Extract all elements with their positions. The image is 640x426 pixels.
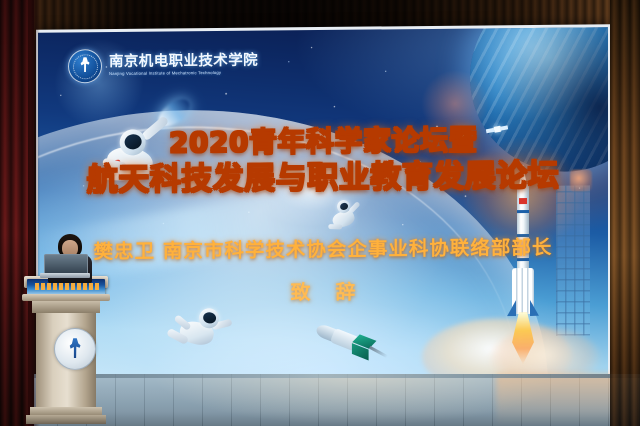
led-screen: 南京机电职业技术学院 Nanjing Vocational Institute … <box>38 27 608 381</box>
banner-title-line2: 航天科技发展与职业教育发展论坛 <box>38 159 608 199</box>
banner-title-line1: 2020青年科学家论坛暨 <box>38 123 608 160</box>
institute-seal-icon <box>54 328 96 370</box>
institution-name-en: Nanjing Vocational Institute of Mechatro… <box>109 71 258 77</box>
institution-name-cn: 南京机电职业技术学院 <box>109 54 258 70</box>
laptop-icon <box>40 254 90 280</box>
led-screen-frame: 南京机电职业技术学院 Nanjing Vocational Institute … <box>36 24 610 382</box>
banner-speech-label: 致 辞 <box>38 273 608 307</box>
right-side-curtain <box>610 0 640 426</box>
banner-title-block: 2020青年科学家论坛暨 航天科技发展与职业教育发展论坛 <box>38 123 608 199</box>
stage-floor-reflection <box>496 374 616 426</box>
podium <box>24 238 108 426</box>
circle-emblem-icon <box>68 49 102 83</box>
institution-logo: 南京机电职业技术学院 Nanjing Vocational Institute … <box>68 48 258 84</box>
banner-subtitle: 樊忠卫 南京市科学技术协会企事业科协联络部部长 <box>38 230 608 264</box>
launch-tower-icon <box>556 185 590 335</box>
conference-stage-photo: 南京机电职业技术学院 Nanjing Vocational Institute … <box>0 0 640 426</box>
